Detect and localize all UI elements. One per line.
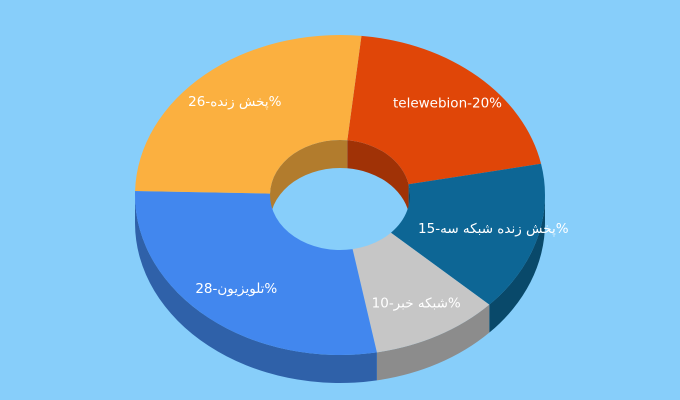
slice-label: %پخش زنده-26 [188,94,281,110]
pie-chart-container: telewebion-20%%پخش زنده شبکه سه-15%شبکه … [0,0,680,400]
slice-label: %تلویزیون-28 [195,281,277,297]
slice-label: %پخش زنده شبکه سه-15 [418,221,569,237]
slice-label: %شبکه خبر-10 [372,296,461,312]
donut-chart-svg: telewebion-20%%پخش زنده شبکه سه-15%شبکه … [0,0,680,400]
slice-label: telewebion-20% [393,96,502,112]
